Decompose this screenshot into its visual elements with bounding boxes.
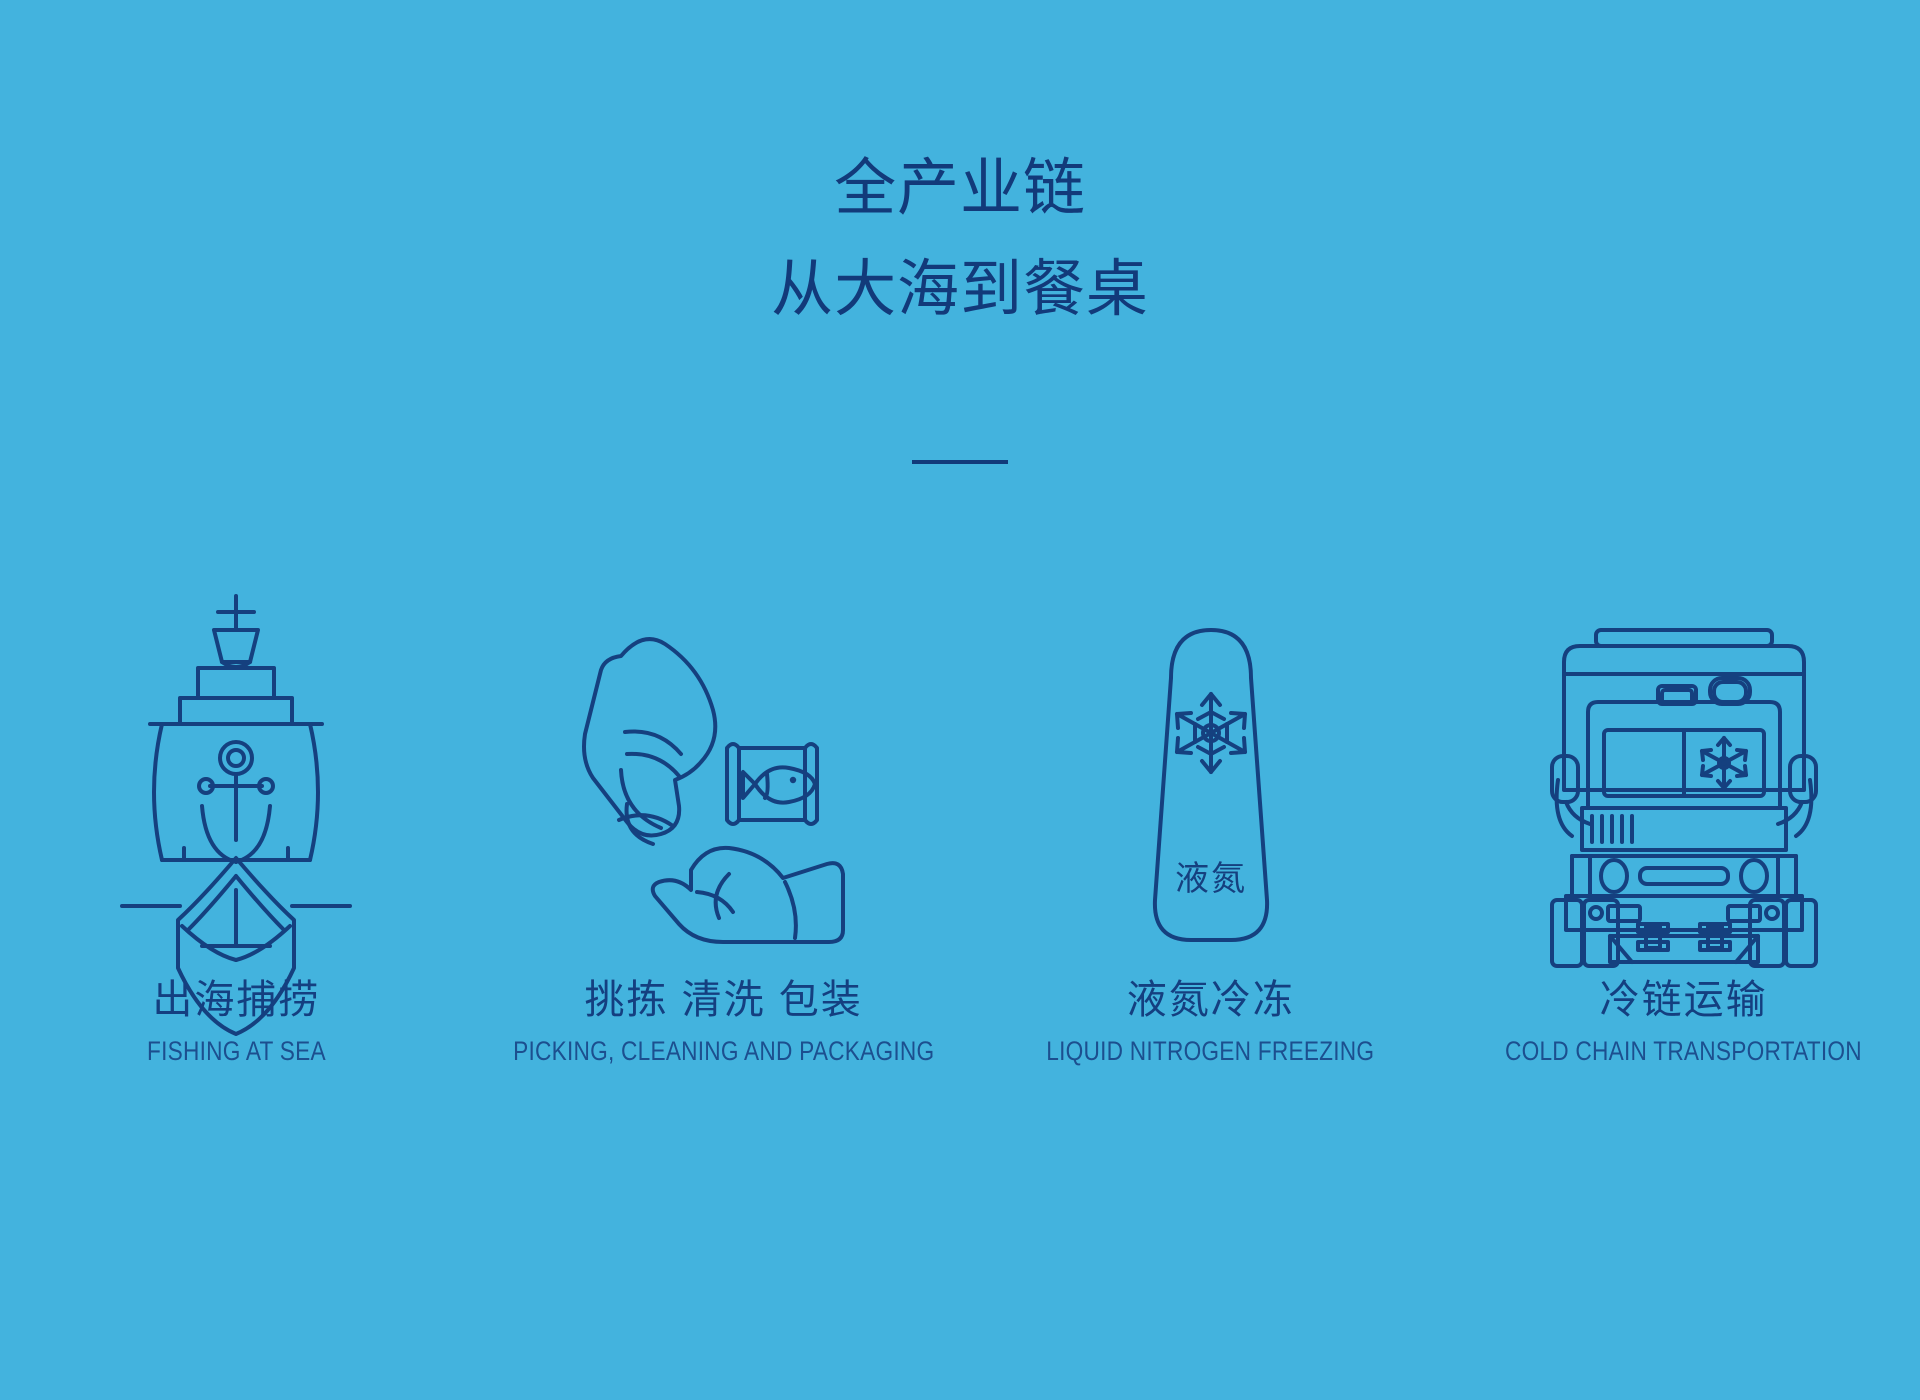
step-label-cn: 冷链运输 <box>1600 980 1768 1020</box>
step-label-en: PICKING, CLEANING AND PACKAGING <box>513 1038 934 1065</box>
hands-with-packaged-fish-icon <box>473 520 974 950</box>
page-title: 全产业链 从大海到餐桌 <box>0 150 1920 331</box>
step-liquid-nitrogen-freezing[interactable]: 液氮 液氮冷冻 LIQUID NITROGEN FREEZING <box>974 520 1447 1160</box>
svg-text:液氮: 液氮 <box>1175 860 1247 898</box>
step-fishing-at-sea[interactable]: 出海捕捞 FISHING AT SEA <box>0 520 473 1160</box>
step-label-cn: 出海捕捞 <box>152 980 320 1020</box>
step-cold-chain-transportation[interactable]: 冷链运输 COLD CHAIN TRANSPORTATION <box>1447 520 1920 1160</box>
title-line-1: 全产业链 <box>0 150 1920 229</box>
step-label-cn: 液氮冷冻 <box>1127 980 1295 1020</box>
step-label-en: LIQUID NITROGEN FREEZING <box>1047 1038 1375 1065</box>
step-label-en: COLD CHAIN TRANSPORTATION <box>1505 1038 1862 1065</box>
title-line-2: 从大海到餐桌 <box>0 251 1920 330</box>
process-steps: 出海捕捞 FISHING AT SEA <box>0 520 1920 1160</box>
nitrogen-tank-icon: 液氮 <box>974 520 1447 950</box>
step-label-cn: 挑拣 清洗 包装 <box>584 980 862 1020</box>
title-divider <box>912 460 1008 464</box>
fishing-boat-icon <box>0 520 473 950</box>
infographic-canvas: 全产业链 从大海到餐桌 <box>0 0 1920 1400</box>
snowflake-icon <box>1702 738 1746 788</box>
refrigerated-truck-icon <box>1447 520 1920 950</box>
snowflake-icon <box>1177 694 1245 772</box>
step-label-en: FISHING AT SEA <box>147 1038 326 1065</box>
step-picking-cleaning-packaging[interactable]: 挑拣 清洗 包装 PICKING, CLEANING AND PACKAGING <box>473 520 974 1160</box>
